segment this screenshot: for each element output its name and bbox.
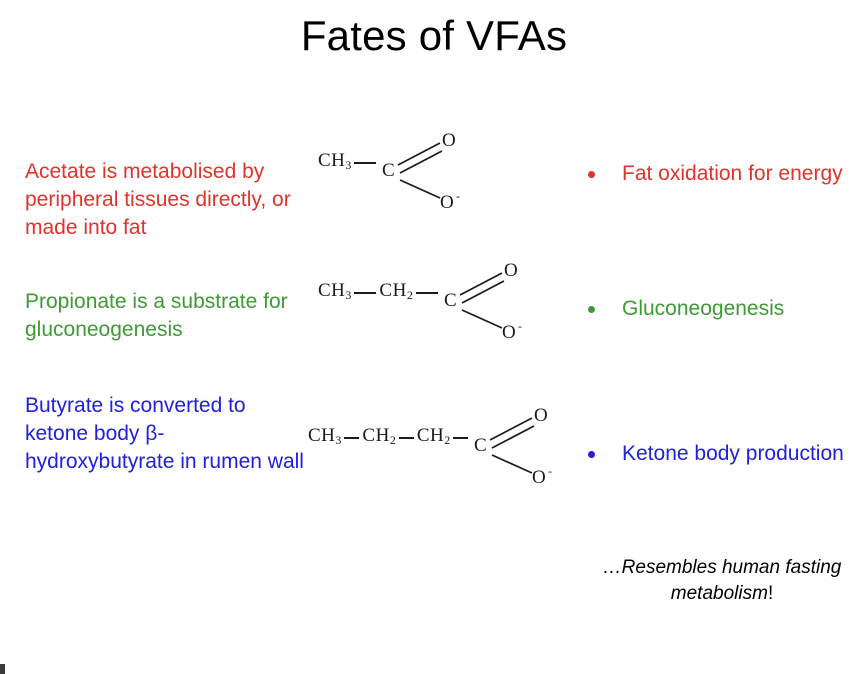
- methylene-label: CH: [417, 425, 444, 446]
- methylene-label: CH: [379, 280, 406, 301]
- methyl-subscript: 3: [345, 158, 351, 172]
- structure-column: CH3 C O O - CH3: [300, 140, 600, 530]
- methyl-label: CH: [318, 150, 345, 171]
- bullet-label: Fat oxidation for energy: [622, 160, 860, 188]
- bullet-dot-icon: [588, 306, 595, 313]
- methyl-group: CH3: [318, 280, 351, 303]
- double-bond-oxygen-label: O: [442, 130, 456, 151]
- slide-canvas: Fates of VFAs Acetate is metabolised by …: [0, 0, 868, 674]
- carboxylate-svg: C O O -: [472, 403, 584, 489]
- propionate-description: Propionate is a substrate for gluconeoge…: [25, 288, 315, 344]
- footer-note-exclamation: !: [768, 583, 773, 604]
- negative-charge-label: -: [518, 319, 522, 333]
- methyl-label: CH: [308, 425, 335, 446]
- bullet-dot-icon: [588, 171, 595, 178]
- bullet-dot-icon: [588, 451, 595, 458]
- methyl-group: CH3: [308, 425, 341, 448]
- carboxylate-head: C O O -: [472, 403, 584, 489]
- methyl-subscript: 3: [345, 288, 351, 302]
- methylene-subscript: 2: [407, 288, 413, 302]
- anion-oxygen-label: O: [532, 467, 546, 488]
- bullet-label: Gluconeogenesis: [622, 295, 860, 323]
- bullet-item-fat-oxidation: Fat oxidation for energy: [588, 160, 860, 188]
- bond-dash: [453, 437, 468, 439]
- carbonyl-carbon-label: C: [444, 290, 457, 311]
- corner-mark: [0, 664, 5, 674]
- methylene-label: CH: [362, 425, 389, 446]
- methylene-group: CH2: [379, 280, 412, 303]
- anion-oxygen-label: O: [440, 192, 454, 213]
- bullet-label: Ketone body production: [622, 440, 860, 468]
- butyrate-formula: CH3 CH2 CH2 C O O -: [308, 425, 584, 511]
- double-bond-oxygen-label: O: [534, 405, 548, 426]
- propionate-formula: CH3 CH2 C O O -: [318, 280, 554, 366]
- bullet-item-ketone-body: Ketone body production: [588, 440, 860, 468]
- bullet-item-gluconeogenesis: Gluconeogenesis: [588, 295, 860, 323]
- anion-oxygen-label: O: [502, 322, 516, 343]
- methylene-subscript: 2: [444, 433, 450, 447]
- methylene-subscript: 2: [390, 433, 396, 447]
- negative-charge-label: -: [548, 464, 552, 478]
- butyrate-description: Butyrate is converted to ketone body β-h…: [25, 392, 305, 476]
- carboxylate-head: C O O -: [380, 128, 492, 214]
- carbonyl-carbon-label: C: [382, 160, 395, 181]
- carboxylate-svg: C O O -: [442, 258, 554, 344]
- carbonyl-carbon-label: C: [474, 435, 487, 456]
- acetate-structure: CH3 C O O -: [318, 150, 492, 236]
- methyl-subscript: 3: [335, 433, 341, 447]
- carboxylate-head: C O O -: [442, 258, 554, 344]
- acetate-description: Acetate is metabolised by peripheral tis…: [25, 158, 310, 242]
- methyl-group: CH3: [318, 150, 351, 173]
- bond-dash: [354, 292, 376, 294]
- carboxylate-svg: C O O -: [380, 128, 492, 214]
- page-title: Fates of VFAs: [0, 10, 868, 62]
- acetate-formula: CH3 C O O -: [318, 150, 492, 236]
- negative-charge-label: -: [456, 189, 460, 203]
- footer-note: …Resembles human fasting metabolism!: [584, 555, 860, 607]
- footer-note-text: …Resembles human fasting metabolism: [603, 557, 842, 604]
- bond-dash: [344, 437, 359, 439]
- bond-dash: [416, 292, 438, 294]
- butyrate-structure: CH3 CH2 CH2 C O O -: [308, 425, 584, 511]
- bond-dash: [399, 437, 414, 439]
- methyl-label: CH: [318, 280, 345, 301]
- methylene-group-1: CH2: [362, 425, 395, 448]
- methylene-group-2: CH2: [417, 425, 450, 448]
- double-bond-oxygen-label: O: [504, 260, 518, 281]
- bond-dash: [354, 162, 376, 164]
- propionate-structure: CH3 CH2 C O O -: [318, 280, 554, 366]
